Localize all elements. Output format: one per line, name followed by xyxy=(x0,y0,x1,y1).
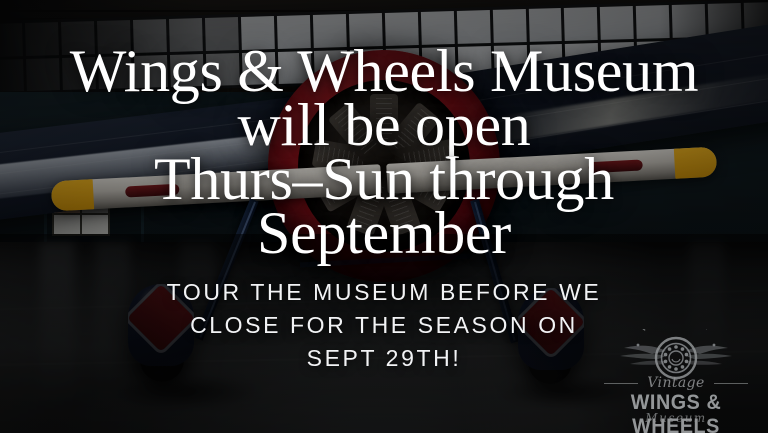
museum-logo: POPLAR GROVE Vintage xyxy=(598,329,754,425)
logo-rule-right xyxy=(714,383,748,384)
logo-rule-left xyxy=(604,383,638,384)
headline-line-1: Wings & Wheels Museum xyxy=(70,44,698,98)
subhead-line-1: TOUR THE MUSEUM BEFORE WE xyxy=(167,276,602,309)
promo-poster: Wings & Wheels Museum will be open Thurs… xyxy=(0,0,768,433)
poster-headline: Wings & Wheels Museum will be open Thurs… xyxy=(70,44,698,260)
poster-subheadline: TOUR THE MUSEUM BEFORE WE CLOSE FOR THE … xyxy=(167,276,602,375)
svg-text:POPLAR GROVE: POPLAR GROVE xyxy=(640,329,711,332)
headline-line-4: September xyxy=(70,206,698,260)
logo-museum-text: Museum xyxy=(598,411,754,425)
subhead-line-3: SEPT 29TH! xyxy=(167,342,602,375)
headline-line-3: Thurs–Sun through xyxy=(70,152,698,206)
headline-line-2: will be open xyxy=(70,98,698,152)
subhead-line-2: CLOSE FOR THE SEASON ON xyxy=(167,309,602,342)
